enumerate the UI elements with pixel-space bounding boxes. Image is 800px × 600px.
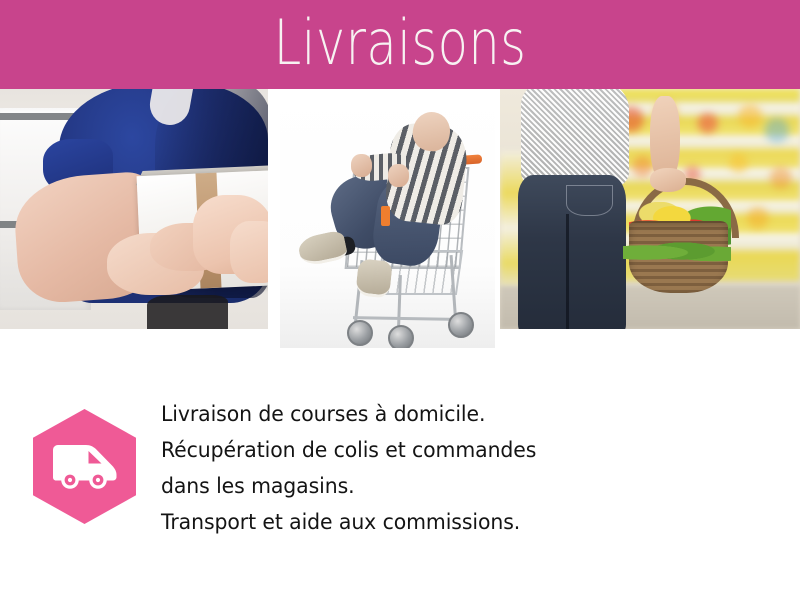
photo1-dark-foreground xyxy=(147,295,227,329)
photo1-receiving-hand-second xyxy=(230,221,268,283)
photo-man-in-shopping-cart xyxy=(280,89,495,348)
photo2-cart-wheel-1 xyxy=(347,320,373,346)
header-banner: Livraisons xyxy=(0,0,800,89)
photo2-orange-tag xyxy=(381,206,390,227)
photo2-cart-wheel-3 xyxy=(448,312,474,338)
description-line-3: dans les magasins. xyxy=(161,469,731,505)
description-line-4: Transport et aide aux commissions. xyxy=(161,505,731,541)
service-description: Livraison de courses à domicile. Récupér… xyxy=(161,397,761,541)
photo-grocery-basket xyxy=(500,89,800,329)
page-title: Livraisons xyxy=(274,12,527,74)
photo3-shopper-hand xyxy=(650,168,686,192)
service-description-section: Livraison de courses à domicile. Récupér… xyxy=(0,355,800,600)
slide-root: Livraisons xyxy=(0,0,800,600)
photo-courier-handing-box xyxy=(0,89,268,329)
photo3-jeans-pocket xyxy=(566,185,613,216)
delivery-van-icon xyxy=(50,442,120,490)
photo3-shopper-shirt xyxy=(521,89,629,187)
photo2-fist-left xyxy=(351,154,373,177)
photo2-fist-right xyxy=(388,164,410,187)
photo2-cart-wheel-2 xyxy=(388,325,414,348)
photo3-jeans-seam xyxy=(566,214,569,329)
photo3-green-vegetables xyxy=(623,238,731,267)
delivery-van-hexagon-icon xyxy=(33,409,136,524)
description-line-2: Récupération de colis et commandes xyxy=(161,433,731,469)
photo-strip xyxy=(0,89,800,351)
description-line-1: Livraison de courses à domicile. xyxy=(161,397,731,433)
